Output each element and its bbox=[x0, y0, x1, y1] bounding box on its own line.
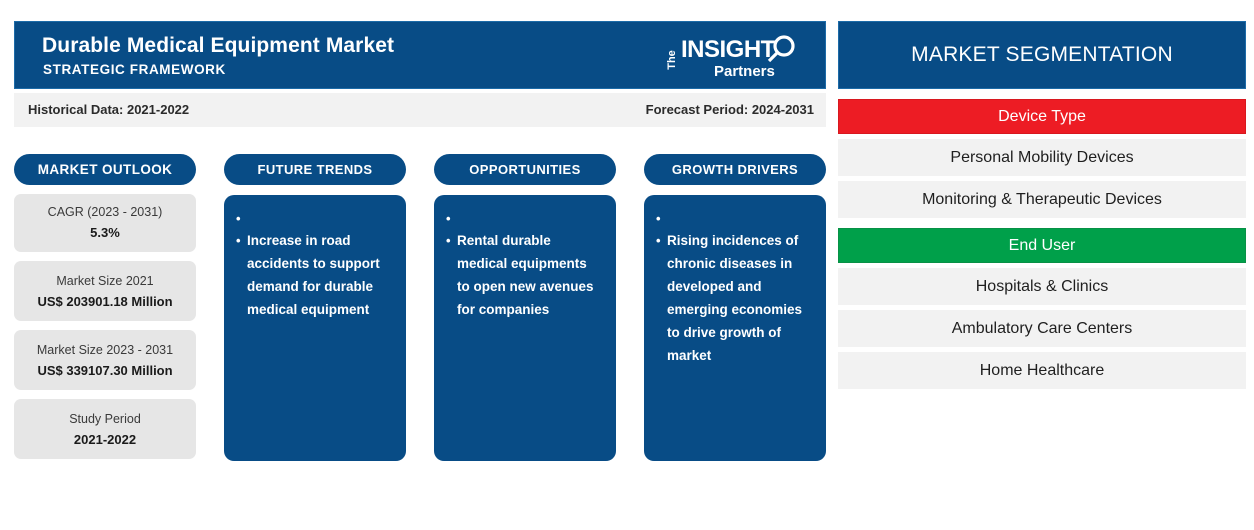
list-item bbox=[446, 207, 602, 229]
segmentation-group-end-user: End User Hospitals & Clinics Ambulatory … bbox=[838, 228, 1246, 389]
segment-header-end-user: End User bbox=[838, 228, 1246, 263]
metric-value: 5.3% bbox=[20, 223, 190, 242]
list-item: Rising incidences of chronic diseases in… bbox=[656, 229, 812, 367]
opportunities-header: OPPORTUNITIES bbox=[434, 154, 616, 185]
list-item: Monitoring & Therapeutic Devices bbox=[838, 181, 1246, 218]
growth-drivers-panel: Rising incidences of chronic diseases in… bbox=[644, 195, 826, 461]
segmentation-group-device-type: Device Type Personal Mobility Devices Mo… bbox=[838, 99, 1246, 218]
future-trends-panel: Increase in road accidents to support de… bbox=[224, 195, 406, 461]
page-subtitle: STRATEGIC FRAMEWORK bbox=[43, 62, 226, 77]
metric-value: US$ 203901.18 Million bbox=[20, 292, 190, 311]
metric-label: Market Size 2021 bbox=[20, 272, 190, 290]
report-header: Durable Medical Equipment Market STRATEG… bbox=[14, 21, 826, 89]
list-item: Hospitals & Clinics bbox=[838, 268, 1246, 305]
future-trends-bullets: Increase in road accidents to support de… bbox=[236, 207, 392, 321]
list-item bbox=[656, 207, 812, 229]
market-outlook-column: MARKET OUTLOOK CAGR (2023 - 2031) 5.3% M… bbox=[14, 154, 196, 459]
metric-label: Market Size 2023 - 2031 bbox=[20, 341, 190, 359]
svg-text:The: The bbox=[666, 50, 678, 70]
forecast-period-label: Forecast Period: 2024-2031 bbox=[646, 102, 814, 117]
future-trends-column: FUTURE TRENDS Increase in road accidents… bbox=[224, 154, 406, 461]
growth-drivers-column: GROWTH DRIVERS Rising incidences of chro… bbox=[644, 154, 826, 461]
opportunities-bullets: Rental durable medical equipments to ope… bbox=[446, 207, 602, 321]
metric-value: 2021-2022 bbox=[20, 430, 190, 449]
list-item: Ambulatory Care Centers bbox=[838, 310, 1246, 347]
opportunities-panel: Rental durable medical equipments to ope… bbox=[434, 195, 616, 461]
metric-label: CAGR (2023 - 2031) bbox=[20, 203, 190, 221]
strategic-framework-board: Durable Medical Equipment Market STRATEG… bbox=[14, 21, 826, 461]
market-segmentation-panel: MARKET SEGMENTATION Device Type Personal… bbox=[838, 21, 1246, 389]
list-item: Personal Mobility Devices bbox=[838, 139, 1246, 176]
insight-partners-logo: The INSIGHT Partners bbox=[659, 32, 809, 84]
historical-data-label: Historical Data: 2021-2022 bbox=[28, 102, 189, 117]
metric-value: US$ 339107.30 Million bbox=[20, 361, 190, 380]
list-item: Home Healthcare bbox=[838, 352, 1246, 389]
metric-card-cagr: CAGR (2023 - 2031) 5.3% bbox=[14, 194, 196, 252]
growth-drivers-header: GROWTH DRIVERS bbox=[644, 154, 826, 185]
metric-label: Study Period bbox=[20, 410, 190, 428]
market-outlook-header: MARKET OUTLOOK bbox=[14, 154, 196, 185]
future-trends-header: FUTURE TRENDS bbox=[224, 154, 406, 185]
list-item bbox=[236, 207, 392, 229]
list-item: Increase in road accidents to support de… bbox=[236, 229, 392, 321]
svg-text:INSIGHT: INSIGHT bbox=[681, 36, 776, 63]
metric-card-market-size-2021: Market Size 2021 US$ 203901.18 Million bbox=[14, 261, 196, 321]
list-item: Rental durable medical equipments to ope… bbox=[446, 229, 602, 321]
growth-drivers-bullets: Rising incidences of chronic diseases in… bbox=[656, 207, 812, 367]
svg-text:Partners: Partners bbox=[714, 63, 775, 80]
page-title: Durable Medical Equipment Market bbox=[42, 34, 394, 58]
metric-card-study-period: Study Period 2021-2022 bbox=[14, 399, 196, 459]
segment-header-device-type: Device Type bbox=[838, 99, 1246, 134]
period-bar: Historical Data: 2021-2022 Forecast Peri… bbox=[14, 93, 826, 127]
metric-card-market-size-range: Market Size 2023 - 2031 US$ 339107.30 Mi… bbox=[14, 330, 196, 390]
segmentation-title: MARKET SEGMENTATION bbox=[838, 21, 1246, 89]
opportunities-column: OPPORTUNITIES Rental durable medical equ… bbox=[434, 154, 616, 461]
